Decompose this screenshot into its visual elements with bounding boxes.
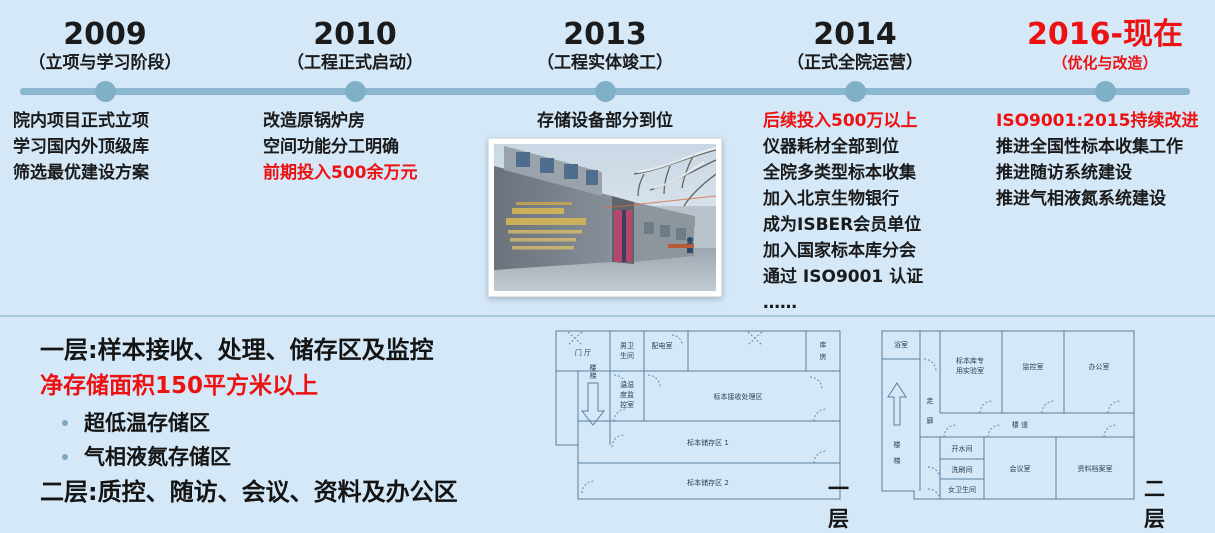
- room-label: 控室: [620, 400, 634, 409]
- room-label: 办公室: [1089, 362, 1110, 371]
- milestone-item: 推进随访系统建设: [996, 160, 1215, 186]
- milestone-list-2010: 改造原锅炉房 空间功能分工明确 前期投入500余万元: [230, 108, 513, 186]
- milestone-item: 全院多类型标本收集: [763, 160, 1013, 186]
- year-subtitle-2009: （立项与学习阶段）: [0, 52, 230, 74]
- room-label: 度监: [620, 390, 634, 399]
- year-label-2014: 2014: [730, 18, 980, 52]
- milestone-item-ellipsis: ……: [763, 290, 1013, 316]
- year-subtitle-2016: （优化与改造）: [980, 52, 1215, 74]
- year-label-2016: 2016-现在: [980, 18, 1215, 52]
- floor-plan-1-caption: 一层: [828, 473, 849, 533]
- milestone-item-highlight: ISO9001:2015持续改进: [996, 108, 1215, 134]
- milestone-item: 推进全国性标本收集工作: [996, 134, 1215, 160]
- room-label: 洗刷间: [952, 465, 973, 474]
- year-subtitle-2013: （工程实体竣工）: [480, 52, 730, 74]
- year-subtitle-2010: （工程正式启动）: [230, 52, 480, 74]
- milestone-list-2016: ISO9001:2015持续改进 推进全国性标本收集工作 推进随访系统建设 推进…: [980, 108, 1215, 212]
- room-label: 女卫生间: [948, 485, 976, 494]
- room-label: 监控室: [1023, 362, 1044, 371]
- facility-section: 一层:样本接收、处理、储存区及监控 净存储面积150平方米以上 超低温存储区 气…: [0, 317, 1215, 532]
- room-label: 标本库专: [956, 356, 984, 365]
- milestone-list-2014: 后续投入500万以上 仪器耗材全部到位 全院多类型标本收集 加入北京生物银行 成…: [730, 108, 1013, 316]
- room-label: 楼: [590, 363, 597, 372]
- milestone-item-highlight: 前期投入500余万元: [263, 160, 513, 186]
- room-label: 标本储存区 2: [687, 478, 729, 487]
- milestone-item: 仪器耗材全部到位: [763, 134, 1013, 160]
- floor1-heading: 一层:样本接收、处理、储存区及监控: [40, 332, 540, 368]
- room-label: 会议室: [1010, 464, 1031, 473]
- milestone-list-2009: 院内项目正式立项 学习国内外顶级库 筛选最优建设方案: [0, 108, 263, 186]
- room-label: 资料档案室: [1078, 464, 1113, 473]
- milestone-item: 学习国内外顶级库: [13, 134, 263, 160]
- floor-plan-1[interactable]: 门 厅 男卫 生间 配电室 库 房 楼 梯 温湿 度监 控室 标本接收处理区 标…: [548, 325, 848, 505]
- room-label: 标本接收处理区: [714, 392, 763, 401]
- room-label: 廊: [927, 416, 934, 425]
- room-label: 男卫: [620, 342, 634, 350]
- room-label: 梯: [894, 456, 901, 465]
- list-item: 超低温存储区: [40, 406, 540, 440]
- timeline-column-2014[interactable]: 2014 （正式全院运营） 后续投入500万以上 仪器耗材全部到位 全院多类型标…: [730, 0, 980, 316]
- photo-image: [494, 144, 716, 291]
- storage-zone-list: 超低温存储区 气相液氮存储区: [40, 406, 540, 474]
- room-label: 生间: [620, 351, 634, 360]
- facility-description: 一层:样本接收、处理、储存区及监控 净存储面积150平方米以上 超低温存储区 气…: [40, 332, 540, 510]
- year-subtitle-2014: （正式全院运营）: [730, 52, 980, 74]
- room-label: 温湿: [620, 380, 634, 389]
- room-label: 走: [927, 397, 934, 405]
- timeline-column-2016[interactable]: 2016-现在 （优化与改造） ISO9001:2015持续改进 推进全国性标本…: [980, 0, 1215, 316]
- milestone-item: 加入北京生物银行: [763, 186, 1013, 212]
- room-label: 楼: [894, 440, 901, 449]
- room-label: 楼 道: [1012, 420, 1028, 429]
- room-label: 梯: [590, 371, 597, 380]
- timeline-section: 2009 （立项与学习阶段） 院内项目正式立项 学习国内外顶级库 筛选最优建设方…: [0, 0, 1215, 316]
- milestone-item: 加入国家标本库分会: [763, 238, 1013, 264]
- milestone-item: 院内项目正式立项: [13, 108, 263, 134]
- room-label: 用实验室: [956, 366, 984, 375]
- room-label: 配电室: [652, 341, 673, 350]
- milestone-item: 改造原锅炉房: [263, 108, 513, 134]
- room-label: 门 厅: [575, 348, 591, 357]
- milestone-item: 通过 ISO9001 认证: [763, 264, 1013, 290]
- list-item: 气相液氮存储区: [40, 440, 540, 474]
- milestone-item: 推进气相液氮系统建设: [996, 186, 1215, 212]
- room-label: 标本储存区 1: [687, 438, 729, 447]
- room-label: 浴室: [894, 340, 908, 349]
- slide-root: 2009 （立项与学习阶段） 院内项目正式立项 学习国内外顶级库 筛选最优建设方…: [0, 0, 1215, 532]
- net-storage-area: 净存储面积150平方米以上: [40, 368, 540, 404]
- room-label: 库: [820, 340, 827, 349]
- milestone-item-highlight: 后续投入500万以上: [763, 108, 1013, 134]
- floor-plan-2-caption: 二层: [1144, 473, 1172, 533]
- milestone-item: 空间功能分工明确: [263, 134, 513, 160]
- timeline-column-2010[interactable]: 2010 （工程正式启动） 改造原锅炉房 空间功能分工明确 前期投入500余万元: [230, 0, 480, 316]
- milestone-item: 成为ISBER会员单位: [763, 212, 1013, 238]
- room-label: 开水间: [952, 444, 973, 453]
- timeline-column-2009[interactable]: 2009 （立项与学习阶段） 院内项目正式立项 学习国内外顶级库 筛选最优建设方…: [0, 0, 230, 316]
- year-label-2009: 2009: [0, 18, 230, 52]
- year-label-2010: 2010: [230, 18, 480, 52]
- milestone-item: 存储设备部分到位: [480, 108, 730, 134]
- milestone-item: 筛选最优建设方案: [13, 160, 263, 186]
- biobank-building-photo[interactable]: [488, 138, 722, 297]
- floor2-heading: 二层:质控、随访、会议、资料及办公区: [40, 474, 540, 510]
- milestone-list-2013: 存储设备部分到位: [480, 108, 730, 134]
- year-label-2013: 2013: [480, 18, 730, 52]
- room-label: 房: [820, 352, 827, 361]
- floor-plan-2[interactable]: 浴室 标本库专 用实验室 监控室 办公室 走 廊 楼 道 楼 梯 开水间 洗刷间…: [872, 325, 1172, 505]
